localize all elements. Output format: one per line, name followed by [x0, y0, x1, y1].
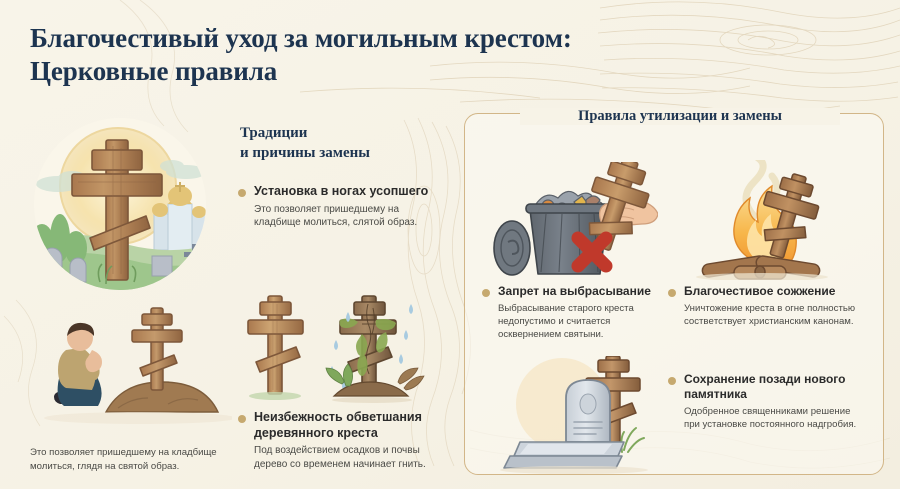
- bullet-dot-icon: [668, 289, 676, 297]
- page-title-line-1: Благочестивый уход за могильным крестом:: [30, 22, 730, 55]
- bullet-dot-icon: [238, 415, 246, 423]
- left-caption: Это позволяет пришедшему на кладбище мол…: [30, 446, 226, 473]
- middle-bullet-1-title: Установка в ногах усопшего: [254, 184, 434, 200]
- middle-bullet-1: Установка в ногах усопшего Это позволяет…: [238, 184, 434, 230]
- page-title-line-2: Церковные правила: [30, 55, 730, 88]
- kneeling-man-praying-at-grave-illustration: [22, 292, 232, 437]
- middle-bullet-2-title: Неизбежность обветшания деревянного крес…: [254, 410, 448, 441]
- middle-heading: Традиции и причины замены: [240, 124, 370, 163]
- right-bullet-2: Благочестивое сожжение Уничтожение крест…: [668, 284, 858, 328]
- page-title: Благочестивый уход за могильным крестом:…: [30, 22, 730, 88]
- middle-heading-line-2: и причины замены: [240, 144, 370, 164]
- right-bullet-3: Сохранение позади нового памятника Одобр…: [668, 372, 858, 431]
- right-bullet-3-body: Одобренное священниками решение при уста…: [684, 405, 858, 431]
- middle-bullet-2: Неизбежность обветшания деревянного крес…: [238, 410, 448, 472]
- right-bullet-2-body: Уничтожение креста в огне полностью сост…: [684, 302, 858, 328]
- bullet-dot-icon: [668, 377, 676, 385]
- right-bullet-1-title: Запрет на выбрасывание: [498, 284, 662, 299]
- middle-heading-line-1: Традиции: [240, 124, 370, 144]
- cross-burning-in-bonfire-illustration: [668, 160, 854, 280]
- orthodox-cross-sunrise-illustration: [14, 112, 226, 292]
- trash-bin-with-cross-prohibited-illustration: [482, 162, 658, 280]
- new-cross-versus-weathered-cross-illustration: [236, 288, 448, 406]
- bullet-dot-icon: [482, 289, 490, 297]
- right-bullet-3-title: Сохранение позади нового памятника: [684, 372, 858, 402]
- granite-monument-with-cross-illustration: [482, 356, 658, 474]
- bullet-dot-icon: [238, 189, 246, 197]
- middle-bullet-2-body: Под воздействием осадков и почвы дерево …: [254, 444, 448, 472]
- right-panel-title: Правила утилизации и замены: [520, 108, 840, 125]
- right-bullet-1-body: Выбрасывание старого креста недопустимо …: [498, 302, 662, 342]
- infographic-poster: Благочестивый уход за могильным крестом:…: [0, 0, 900, 489]
- middle-bullet-1-body: Это позволяет пришедшему на кладбище мол…: [254, 203, 434, 231]
- right-bullet-2-title: Благочестивое сожжение: [684, 284, 858, 299]
- right-bullet-1: Запрет на выбрасывание Выбрасывание стар…: [482, 284, 662, 342]
